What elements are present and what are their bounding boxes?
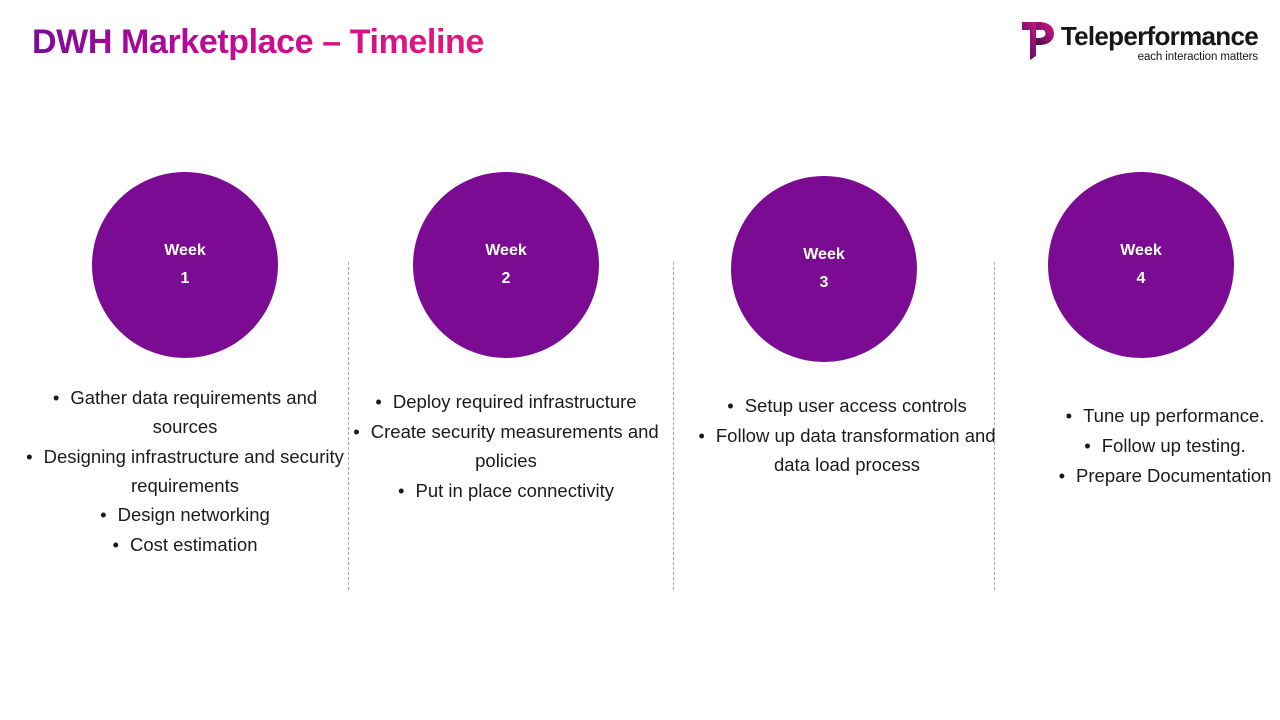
timeline-column-week-2: Week 2 •Deploy required infrastructure •… <box>341 170 671 506</box>
bullet-point-icon: • <box>353 421 359 442</box>
list-item: •Tune up performance. <box>1002 402 1280 431</box>
bullet-list-week-4: •Tune up performance. •Follow up testing… <box>1000 402 1280 491</box>
slide-canvas: DWH Marketplace – Timeline Teleperforman… <box>0 0 1280 720</box>
bullet-point-icon: • <box>53 387 59 408</box>
bullet-list-week-2: •Deploy required infrastructure •Create … <box>341 388 671 505</box>
bullet-list-week-3: •Setup user access controls •Follow up d… <box>682 392 1012 480</box>
list-item-text: Gather data requirements and sources <box>70 387 317 437</box>
week-circle-label-2: Week <box>485 237 527 265</box>
week-circle-number-3: 3 <box>820 269 829 297</box>
week-circle-2[interactable]: Week 2 <box>413 172 599 358</box>
brand-logo: Teleperformance each interaction matters <box>1019 18 1258 66</box>
week-circle-label-1: Week <box>164 237 206 265</box>
list-item-text: Deploy required infrastructure <box>393 391 637 412</box>
bullet-point-icon: • <box>698 425 704 446</box>
list-item-text: Tune up performance. <box>1083 405 1264 426</box>
list-item-text: Follow up testing. <box>1102 435 1246 456</box>
list-item-text: Put in place connectivity <box>416 480 614 501</box>
bullet-point-icon: • <box>1066 405 1072 426</box>
week-circle-1[interactable]: Week 1 <box>92 172 278 358</box>
bullet-point-icon: • <box>100 504 106 525</box>
list-item: •Designing infrastructure and security r… <box>22 443 348 501</box>
timeline-column-week-3: Week 3 •Setup user access controls •Foll… <box>682 170 1012 481</box>
list-item: •Follow up testing. <box>1002 432 1280 461</box>
list-item-text: Create security measurements and policie… <box>371 421 659 471</box>
list-item-text: Cost estimation <box>130 534 258 555</box>
week-circle-label-3: Week <box>803 241 845 269</box>
circle-wrap-week-4: Week 4 <box>1000 170 1280 362</box>
week-circle-number-2: 2 <box>502 265 511 293</box>
bullet-point-icon: • <box>375 391 381 412</box>
bullet-point-icon: • <box>113 534 119 555</box>
bullet-point-icon: • <box>727 395 733 416</box>
week-circle-4[interactable]: Week 4 <box>1048 172 1234 358</box>
list-item: •Deploy required infrastructure <box>343 388 669 417</box>
column-divider-2 <box>673 262 674 590</box>
circle-wrap-week-2: Week 2 <box>341 170 671 362</box>
circle-wrap-week-3: Week 3 <box>682 170 1012 362</box>
week-circle-number-1: 1 <box>181 265 190 293</box>
list-item: •Create security measurements and polici… <box>343 418 669 476</box>
list-item: •Setup user access controls <box>684 392 1010 421</box>
list-item-text: Follow up data transformation and data l… <box>716 425 996 475</box>
circle-wrap-week-1: Week 1 <box>20 170 350 362</box>
bullet-list-week-1: •Gather data requirements and sources •D… <box>20 384 350 560</box>
bullet-point-icon: • <box>26 446 32 467</box>
bullet-point-icon: • <box>1059 465 1065 486</box>
bullet-point-icon: • <box>1084 435 1090 456</box>
week-circle-label-4: Week <box>1120 237 1162 265</box>
list-item: •Follow up data transformation and data … <box>684 422 1010 480</box>
logo-brand-name: Teleperformance <box>1061 23 1258 50</box>
list-item-text: Setup user access controls <box>745 395 967 416</box>
timeline-column-week-4: Week 4 •Tune up performance. •Follow up … <box>1000 170 1280 492</box>
list-item: •Gather data requirements and sources <box>22 384 348 442</box>
list-item-text: Designing infrastructure and security re… <box>44 446 344 496</box>
teleperformance-tp-monogram-icon <box>1019 18 1055 62</box>
list-item: •Put in place connectivity <box>343 477 669 506</box>
logo-text-block: Teleperformance each interaction matters <box>1061 18 1258 63</box>
list-item: •Cost estimation <box>22 531 348 560</box>
list-item-text: Design networking <box>118 504 270 525</box>
bullet-point-icon: • <box>398 480 404 501</box>
week-circle-3[interactable]: Week 3 <box>731 176 917 362</box>
page-title: DWH Marketplace – Timeline <box>32 23 484 62</box>
list-item: •Design networking <box>22 501 348 530</box>
week-circle-number-4: 4 <box>1137 265 1146 293</box>
logo-tagline: each interaction matters <box>1138 51 1258 63</box>
timeline-column-week-1: Week 1 •Gather data requirements and sou… <box>20 170 350 561</box>
list-item-text: Prepare Documentation <box>1076 465 1271 486</box>
list-item: •Prepare Documentation <box>1002 462 1280 491</box>
